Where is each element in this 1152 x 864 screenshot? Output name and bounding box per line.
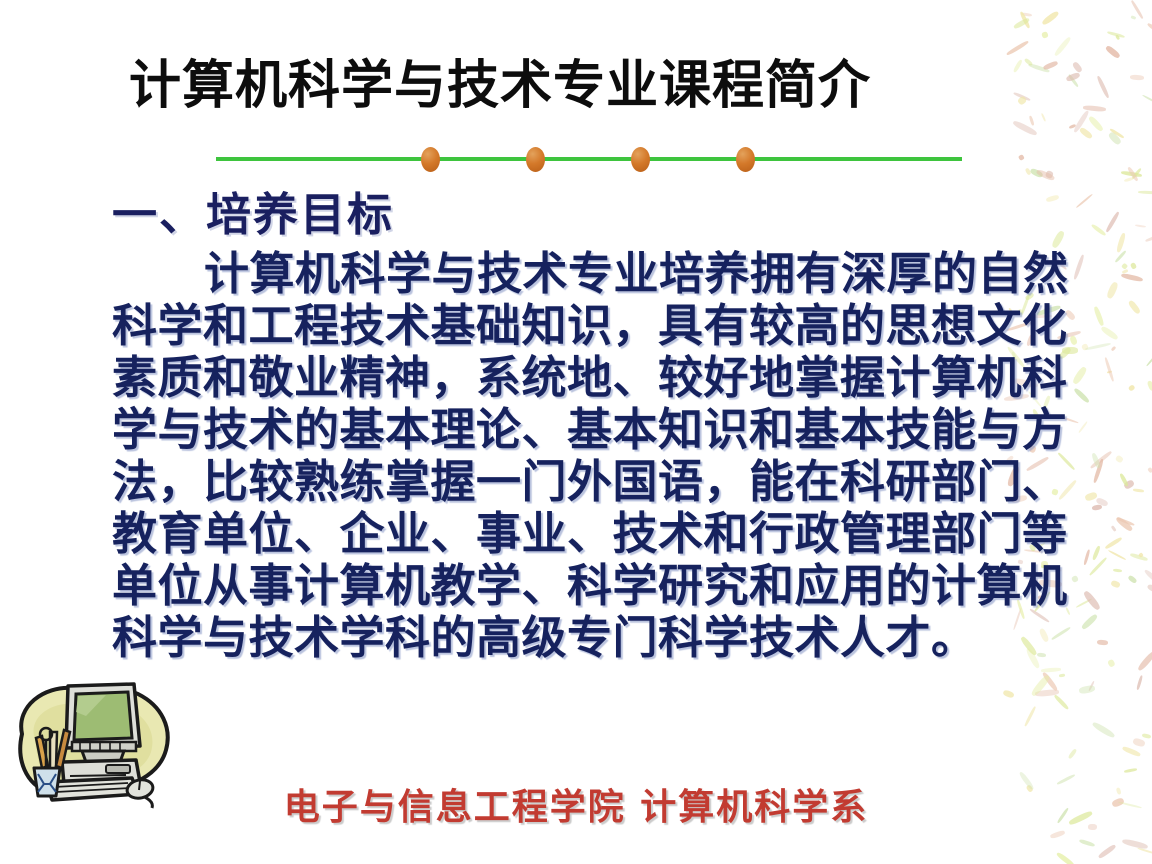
decorative-dash	[1136, 674, 1143, 690]
decorative-dash	[1082, 589, 1101, 610]
decorative-dash	[1019, 154, 1026, 161]
section-heading: 一、培养目标	[112, 178, 394, 243]
decorative-dash	[1079, 126, 1093, 139]
decorative-dash	[1092, 546, 1101, 561]
decorative-dash	[1137, 847, 1152, 855]
decorative-dash	[1089, 450, 1111, 469]
decorative-dash	[1100, 325, 1119, 341]
decorative-dash	[1069, 124, 1077, 130]
body-line: 学与技术的基本理论、基本知识和基本技能与方	[112, 404, 1082, 456]
decorative-dash	[1122, 479, 1134, 490]
decorative-dash	[1132, 738, 1146, 748]
decorative-dash	[1092, 504, 1103, 511]
decorative-dash	[1131, 15, 1136, 19]
divider-line	[216, 157, 962, 161]
body-paragraph: 计算机科学与技术专业培养拥有深厚的自然 科学和工程技术基础知识，具有较高的思想文…	[112, 248, 1082, 664]
decorative-dash	[1055, 852, 1075, 864]
decorative-dash	[1124, 767, 1137, 772]
body-line: 单位从事计算机教学、科学研究和应用的计算机	[112, 560, 1082, 612]
decorative-dash	[1121, 269, 1128, 274]
decorative-dash	[1106, 281, 1119, 299]
decorative-dash	[1090, 452, 1101, 469]
decorative-dash	[1081, 343, 1089, 351]
decorative-dash	[1147, 584, 1152, 596]
decorative-dash	[1054, 36, 1072, 57]
decorative-dash	[1121, 263, 1127, 269]
body-line: 素质和敬业精神，系统地、较好地掌握计算机科	[112, 352, 1082, 404]
decorative-dash	[1092, 720, 1117, 738]
divider-bullet-3	[631, 147, 650, 172]
decorative-dash	[1127, 167, 1139, 182]
decorative-dash	[1041, 31, 1048, 39]
decorative-dash	[1138, 552, 1144, 558]
title-divider	[216, 147, 962, 171]
decorative-dash	[1110, 346, 1116, 352]
divider-bullet-4	[736, 147, 755, 172]
decorative-dash	[1051, 230, 1065, 249]
slide-canvas: 计算机科学与技术专业课程简介 一、培养目标 计算机科学与技术专业培养拥有深厚的自…	[0, 0, 1152, 864]
decorative-dash	[1045, 170, 1054, 179]
decorative-dash	[1147, 467, 1152, 473]
decorative-dash	[1058, 673, 1064, 677]
decorative-dash	[1105, 45, 1121, 59]
decorative-dash	[1019, 11, 1031, 29]
decorative-dash	[1020, 13, 1031, 18]
decorative-dash	[1127, 299, 1141, 314]
decorative-dash	[1041, 667, 1061, 672]
title-block: 计算机科学与技术专业课程简介	[0, 58, 1000, 115]
decorative-dash	[1023, 706, 1035, 727]
decorative-dash	[1075, 194, 1092, 209]
decorative-dash	[1029, 673, 1050, 697]
decorative-dash	[1006, 40, 1030, 56]
decorative-dash	[1115, 455, 1124, 463]
decorative-dash	[1097, 640, 1108, 646]
decorative-dash	[1107, 659, 1115, 668]
decorative-dash	[1012, 120, 1037, 137]
decorative-dash	[1123, 177, 1134, 183]
decorative-dash	[1130, 75, 1144, 81]
decorative-dash	[1131, 168, 1142, 180]
decorative-dash	[1113, 568, 1122, 572]
decorative-dash	[1072, 110, 1090, 134]
decorative-dash	[1095, 497, 1108, 507]
decorative-dash	[1035, 168, 1055, 181]
body-line: 科学与技术学科的高级专门科学技术人才。	[112, 612, 1082, 664]
decorative-dash	[1043, 61, 1058, 71]
decorative-dash	[1024, 167, 1031, 175]
decorative-dash	[1128, 384, 1136, 392]
decorative-dash	[1065, 72, 1080, 83]
body-line: 科学和工程技术基础知识，具有较高的思想文化	[112, 300, 1082, 352]
divider-bullet-2	[526, 147, 545, 172]
decorative-dash	[1091, 223, 1108, 237]
decorative-dash	[1002, 689, 1015, 699]
decorative-dash	[1115, 515, 1133, 531]
decorative-dash	[1088, 557, 1107, 576]
decorative-dash	[1083, 105, 1106, 112]
decorative-dash	[1135, 224, 1146, 228]
decorative-dash	[1079, 684, 1096, 694]
decorative-dash	[1013, 17, 1030, 29]
page-title: 计算机科学与技术专业课程简介	[129, 58, 871, 115]
decorative-dash	[1041, 9, 1060, 26]
decorative-dash	[1035, 689, 1059, 697]
decorative-dash	[1104, 536, 1123, 550]
decorative-dash	[1081, 614, 1098, 631]
body-line: 教育单位、企业、事业、技术和行政管理部门等	[112, 508, 1082, 560]
decorative-dash	[1146, 22, 1152, 37]
decorative-dash	[1094, 306, 1105, 327]
decorative-dash	[1107, 131, 1121, 146]
decorative-dash	[1119, 473, 1129, 487]
decorative-dash	[1120, 273, 1142, 283]
decorative-dash	[1145, 234, 1152, 241]
decorative-dash	[1147, 380, 1152, 391]
decorative-dash	[1110, 580, 1120, 589]
decorative-dash	[1029, 115, 1034, 125]
decorative-dash	[1024, 57, 1033, 66]
decorative-dash	[1105, 211, 1120, 233]
body-line: 法，比较熟练掌握一门外国语，能在科研部门、	[112, 456, 1082, 508]
decorative-dash	[1111, 526, 1116, 532]
decorative-dash	[1013, 91, 1030, 100]
decorative-dash	[1107, 370, 1113, 374]
decorative-dash	[1114, 249, 1126, 262]
decorative-dash	[1132, 488, 1143, 492]
decorative-dash	[1104, 357, 1114, 382]
decorative-dash	[1045, 194, 1059, 202]
decorative-dash	[1116, 517, 1134, 526]
divider-bullet-1	[421, 147, 440, 172]
decorative-dash	[1122, 745, 1141, 757]
body-line: 计算机科学与技术专业培养拥有深厚的自然	[112, 248, 1082, 300]
decorative-dash	[1115, 232, 1126, 253]
decorative-dash	[1016, 95, 1027, 105]
decorative-dash	[1088, 681, 1095, 692]
decorative-dash	[1098, 844, 1117, 860]
decorative-dash	[1130, 262, 1137, 269]
decorative-dash	[1079, 839, 1095, 848]
decorative-dash	[1028, 63, 1050, 74]
decorative-dash	[1141, 94, 1152, 108]
decorative-dash	[1096, 75, 1110, 99]
decorative-dash	[1084, 342, 1110, 350]
decorative-dash	[1067, 749, 1076, 760]
decorative-dash	[1144, 568, 1152, 588]
decorative-dash	[1127, 574, 1137, 583]
decorative-dash	[1067, 74, 1078, 87]
decorative-dash	[1146, 349, 1152, 366]
decorative-dash	[1129, 552, 1147, 561]
decorative-dash	[1131, 0, 1144, 19]
decorative-dash	[1029, 168, 1044, 179]
decorative-dash	[1050, 829, 1066, 838]
decorative-dash	[1121, 838, 1148, 850]
decorative-dash	[1041, 671, 1058, 692]
decorative-dash	[1054, 694, 1070, 710]
decorative-dash	[1136, 651, 1152, 673]
decorative-dash	[1083, 550, 1090, 566]
computer-clipart-icon	[6, 672, 182, 822]
decorative-dash	[1041, 113, 1047, 122]
decorative-dash	[1121, 171, 1142, 178]
decorative-dash	[1138, 190, 1152, 194]
decorative-dash	[1114, 35, 1119, 41]
decorative-dash	[1092, 458, 1104, 483]
decorative-dash	[1107, 30, 1125, 38]
decorative-dash	[1142, 733, 1152, 739]
decorative-dash	[1012, 59, 1023, 73]
decorative-dash	[1084, 492, 1098, 502]
decorative-dash	[1108, 550, 1127, 561]
decorative-dash	[1072, 61, 1083, 73]
decorative-dash	[1088, 115, 1105, 132]
decorative-dash	[1110, 128, 1125, 139]
